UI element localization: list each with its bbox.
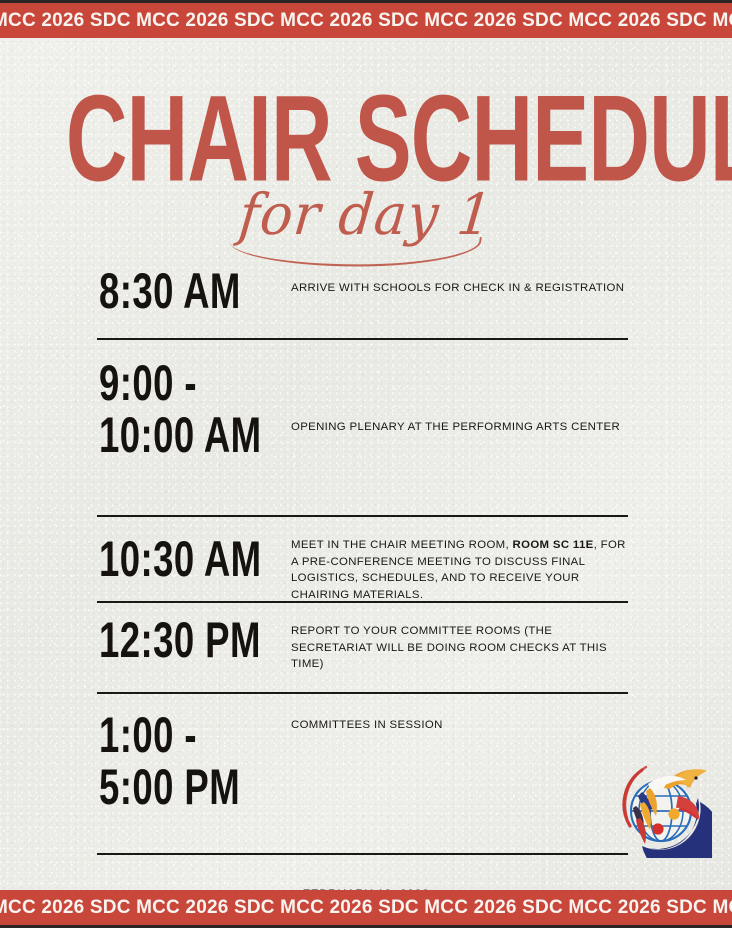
bottom-marquee-text: MCC 2026 SDC MCC 2026 SDC MCC 2026 SDC M… — [0, 897, 732, 919]
top-marquee-banner: MCC 2026 SDC MCC 2026 SDC MCC 2026 SDC M… — [0, 3, 732, 38]
schedule-time: 9:00 - 10:00 AM — [99, 358, 262, 462]
schedule-divider — [97, 853, 628, 855]
bottom-marquee-banner: MCC 2026 SDC MCC 2026 SDC MCC 2026 SDC M… — [0, 890, 732, 925]
schedule-description-room: ROOM SC 11E — [513, 539, 594, 551]
logo-svg — [612, 758, 712, 858]
title-block: CHAIR SCHEDULE for day 1 — [0, 78, 732, 253]
schedule-time: 8:30 AM — [99, 266, 241, 318]
schedule-time: 12:30 PM — [99, 615, 261, 667]
page-subtitle-script: for day 1 — [0, 187, 732, 244]
schedule-description: REPORT TO YOUR COMMITTEE ROOMS (THE SECR… — [291, 623, 631, 673]
schedule-divider — [97, 601, 628, 603]
mcc-sdc-globe-eagle-logo — [612, 758, 712, 858]
top-edge-rule — [0, 0, 732, 3]
schedule-divider — [97, 338, 628, 340]
top-marquee-text: MCC 2026 SDC MCC 2026 SDC MCC 2026 SDC M… — [0, 10, 732, 32]
schedule-description-pre: MEET IN THE CHAIR MEETING ROOM, — [291, 539, 513, 551]
schedule-time: 1:00 - 5:00 PM — [99, 710, 240, 814]
schedule-description: MEET IN THE CHAIR MEETING ROOM, ROOM SC … — [291, 537, 631, 603]
schedule-divider — [97, 515, 628, 517]
schedule-time: 10:30 AM — [99, 534, 262, 586]
schedule-description: COMMITTEES IN SESSION — [291, 717, 631, 734]
schedule-divider — [97, 692, 628, 694]
schedule-description: ARRIVE WITH SCHOOLS FOR CHECK IN & REGIS… — [291, 280, 631, 297]
schedule-description: OPENING PLENARY AT THE PERFORMING ARTS C… — [291, 419, 631, 436]
